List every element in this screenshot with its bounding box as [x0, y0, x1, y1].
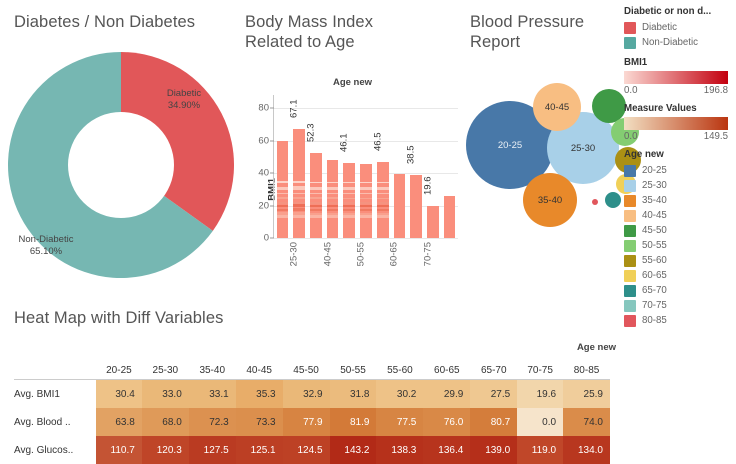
- heatmap-cell[interactable]: 72.3: [189, 408, 236, 436]
- bar-density-band: [327, 202, 339, 203]
- bar-density-band: [293, 212, 305, 215]
- bar[interactable]: [327, 160, 339, 238]
- legend-bmi1-min: 0.0: [624, 85, 637, 96]
- bar[interactable]: [277, 141, 289, 238]
- table-row: Avg. Blood ..63.868.072.373.377.981.977.…: [14, 408, 610, 436]
- heatmap-table: 20-2525-3035-4040-4545-5050-5555-6060-65…: [14, 356, 610, 464]
- legend-age-new-label: 35-40: [642, 195, 667, 206]
- bar-density-band: [277, 193, 289, 194]
- bar-density-band: [360, 209, 372, 211]
- bar-density-band: [377, 193, 389, 194]
- bar-column[interactable]: 38.5: [408, 95, 425, 238]
- legend-age-new-item[interactable]: 60-65: [624, 268, 736, 283]
- bar-density-band: [360, 202, 372, 203]
- bar-density-band: [310, 213, 322, 215]
- table-row: Avg. BMI130.433.033.135.332.931.830.229.…: [14, 380, 610, 409]
- bar-density-band: [310, 193, 322, 194]
- y-axis-tick: 20: [258, 200, 269, 211]
- y-axis-tick: 40: [258, 168, 269, 179]
- heatmap-column-header: 70-75: [517, 356, 563, 380]
- bar-density-band: [310, 182, 322, 184]
- color-swatch-icon: [624, 37, 636, 49]
- color-swatch-icon: [624, 195, 636, 207]
- bar-column[interactable]: 40-45: [324, 95, 341, 238]
- legend-age-new-item[interactable]: 45-50: [624, 223, 736, 238]
- heatmap-cell[interactable]: 30.4: [96, 380, 142, 409]
- heatmap-cell[interactable]: 31.8: [330, 380, 377, 409]
- bar[interactable]: [394, 174, 406, 238]
- color-swatch-icon: [624, 285, 636, 297]
- bar-density-band: [360, 215, 372, 218]
- bar[interactable]: [410, 175, 422, 238]
- legend-diabetic-item[interactable]: Non-Diabetic: [624, 35, 736, 50]
- bar-density-band: [360, 193, 372, 194]
- bar-density-band: [277, 181, 289, 183]
- legend-measure-values-range: 0.0 149.5: [624, 131, 728, 142]
- legend-age-new-label: 50-55: [642, 240, 667, 251]
- heatmap-cell[interactable]: 27.5: [470, 380, 517, 409]
- bar-density-band: [343, 198, 355, 199]
- legend-age-new-label: 45-50: [642, 225, 667, 236]
- bar-density-band: [293, 204, 305, 206]
- heatmap-cell[interactable]: 134.0: [563, 436, 610, 464]
- heatmap-cell[interactable]: 139.0: [470, 436, 517, 464]
- heatmap-cell[interactable]: 143.2: [330, 436, 377, 464]
- bar-density-band: [310, 205, 322, 207]
- heatmap-cell[interactable]: 138.3: [376, 436, 423, 464]
- heatmap-cell[interactable]: 73.3: [236, 408, 283, 436]
- bar-density-band: [343, 209, 355, 211]
- bar-column[interactable]: 46.5: [374, 95, 391, 238]
- heatmap-column-header: 20-25: [96, 356, 142, 380]
- legend-age-new-label: 20-25: [642, 165, 667, 176]
- bar-density-band: [343, 213, 355, 215]
- y-axis-tick: 80: [258, 103, 269, 114]
- legend-age-new-label: 25-30: [642, 180, 667, 191]
- heatmap-column-header: 45-50: [283, 356, 330, 380]
- legend-diabetic-title: Diabetic or non d...: [624, 6, 736, 17]
- x-axis-tick: 40-45: [322, 242, 333, 266]
- heatmap-cell[interactable]: 124.5: [283, 436, 330, 464]
- color-swatch-icon: [624, 315, 636, 327]
- bar-value-label: 46.1: [339, 134, 350, 153]
- bar-chart-plot: BMI1 020406080 67.125-3052.340-4546.150-…: [274, 95, 458, 260]
- color-swatch-icon: [624, 225, 636, 237]
- bar-value-label: 67.1: [289, 99, 300, 118]
- heatmap-cell[interactable]: 74.0: [563, 408, 610, 436]
- donut-label-diabetic: Diabetic 34.90%: [148, 88, 220, 112]
- legend-measure-values-min: 0.0: [624, 131, 637, 142]
- heatmap-column-header: 35-40: [189, 356, 236, 380]
- legend-age-new-item[interactable]: 50-55: [624, 238, 736, 253]
- heatmap-cell[interactable]: 29.9: [423, 380, 470, 409]
- bar-density-band: [310, 197, 322, 199]
- dashboard: Diabetes / Non Diabetes Diabetic 34.90% …: [0, 0, 736, 454]
- heatmap-cell[interactable]: 25.9: [563, 380, 610, 409]
- heatmap-cell[interactable]: 77.9: [283, 408, 330, 436]
- bar-density-band: [360, 205, 372, 207]
- heatmap-cell[interactable]: 76.0: [423, 408, 470, 436]
- bar-density-band: [377, 202, 389, 203]
- bar[interactable]: [377, 162, 389, 238]
- bar-density-band: [377, 198, 389, 200]
- bar-density-band: [293, 197, 305, 199]
- bar[interactable]: [293, 129, 305, 238]
- bar-density-band: [310, 214, 322, 217]
- heatmap-column-header: 50-55: [330, 356, 377, 380]
- color-swatch-icon: [624, 165, 636, 177]
- color-swatch-icon: [624, 255, 636, 267]
- legend-age-new-label: 80-85: [642, 315, 667, 326]
- legend-diabetic-item[interactable]: Diabetic: [624, 20, 736, 35]
- legend-age-new-label: 70-75: [642, 300, 667, 311]
- legend-measure-values-title: Measure Values: [624, 103, 736, 114]
- y-axis-tick: 60: [258, 135, 269, 146]
- heatmap-column-header: 80-85: [563, 356, 610, 380]
- heatmap-cell[interactable]: 0.0: [517, 408, 563, 436]
- legend-bmi1: BMI1 0.0 196.8: [624, 57, 736, 96]
- bar-density-band: [343, 187, 355, 189]
- bar-density-band: [377, 209, 389, 211]
- legend-age-new-title: Age new: [624, 149, 736, 160]
- bar-density-band: [377, 215, 389, 218]
- bar-density-band: [327, 193, 339, 194]
- heatmap-cell[interactable]: 32.9: [283, 380, 330, 409]
- bar-density-band: [293, 181, 305, 183]
- heatmap-cell[interactable]: 80.7: [470, 408, 517, 436]
- legend-age-new-item[interactable]: 65-70: [624, 283, 736, 298]
- heatmap-column-header: 40-45: [236, 356, 283, 380]
- bubble-65-70[interactable]: [605, 192, 621, 208]
- bar[interactable]: [310, 153, 322, 238]
- heatmap-title: Heat Map with Diff Variables: [14, 308, 223, 328]
- heatmap-column-header: 25-30: [142, 356, 189, 380]
- legend-age-new-item[interactable]: 55-60: [624, 253, 736, 268]
- legend-age-new-label: 55-60: [642, 255, 667, 266]
- bar-density-band: [343, 215, 355, 218]
- bar-density-band: [310, 187, 322, 190]
- x-axis-tick: 50-55: [355, 242, 366, 266]
- bar-value-label: 52.3: [305, 124, 316, 143]
- bar-density-band: [277, 205, 289, 207]
- bar[interactable]: [360, 164, 372, 238]
- legend-bmi1-colorbar: [624, 71, 728, 84]
- legend-age-new-label: 60-65: [642, 270, 667, 281]
- x-axis-tick: 70-75: [422, 242, 433, 266]
- bubble-40-45[interactable]: 40-45: [533, 83, 581, 131]
- heatmap-column-header: 65-70: [470, 356, 517, 380]
- bar-density-band: [277, 212, 289, 214]
- heatmap-cell[interactable]: 33.1: [189, 380, 236, 409]
- heatmap-cell[interactable]: 120.3: [142, 436, 189, 464]
- bar-density-band: [377, 182, 389, 184]
- bar-column[interactable]: 52.3: [307, 95, 324, 238]
- bubble-chart: 20-2525-3035-4040-45: [462, 70, 620, 220]
- legend-age-new-item[interactable]: 80-85: [624, 313, 736, 328]
- donut-hole: [68, 112, 174, 218]
- bar-density-band: [360, 198, 372, 199]
- heatmap-row-header: Avg. BMI1: [14, 380, 96, 409]
- bubble-35-40[interactable]: 35-40: [523, 173, 577, 227]
- table-row: Avg. Glucos..110.7120.3127.5125.1124.514…: [14, 436, 610, 464]
- color-swatch-icon: [624, 270, 636, 282]
- color-swatch-icon: [624, 300, 636, 312]
- gridline: [274, 238, 458, 239]
- bar-density-band: [343, 205, 355, 207]
- bar-density-band: [277, 197, 289, 199]
- bar-column[interactable]: 19.670-75: [425, 95, 442, 238]
- bar-density-band: [327, 213, 339, 215]
- donut-chart: Diabetic 34.90% Non-Diabetic 65.10%: [8, 40, 234, 290]
- bar-density-band: [327, 187, 339, 189]
- bar-density-band: [327, 215, 339, 218]
- bar-density-band: [327, 182, 339, 184]
- heatmap-cell[interactable]: 19.6: [517, 380, 563, 409]
- bubble-chart-title: Blood Pressure Report: [470, 12, 620, 52]
- bar-density-band: [293, 186, 305, 189]
- bar-density-band: [327, 205, 339, 207]
- legend-measure-values-max: 149.5: [704, 131, 728, 142]
- bar-plot-area: 020406080 67.125-3052.340-4546.150-5546.…: [274, 95, 458, 238]
- heatmap-panel: Heat Map with Diff Variables Age new 20-…: [0, 300, 624, 454]
- bar-density-band: [293, 202, 305, 204]
- bar-chart-title: Body Mass Index Related to Age: [245, 12, 460, 52]
- heatmap-x-axis-title: Age new: [577, 342, 616, 353]
- legend-diabetic-label: Non-Diabetic: [642, 37, 698, 48]
- color-swatch-icon: [624, 240, 636, 252]
- bar[interactable]: [444, 196, 456, 238]
- color-swatch-icon: [624, 180, 636, 192]
- color-swatch-icon: [624, 210, 636, 222]
- heatmap-cell[interactable]: 127.5: [189, 436, 236, 464]
- heatmap-cell[interactable]: 119.0: [517, 436, 563, 464]
- heatmap-header-row: 20-2525-3035-4040-4545-5050-5555-6060-65…: [14, 356, 610, 380]
- heatmap-cell[interactable]: 110.7: [96, 436, 142, 464]
- heatmap-cell[interactable]: 68.0: [142, 408, 189, 436]
- y-axis-tick: 0: [264, 233, 269, 244]
- bar-density-band: [360, 182, 372, 183]
- bar-density-band: [377, 187, 389, 189]
- legend-bmi1-max: 196.8: [704, 85, 728, 96]
- bubble-80-85[interactable]: [592, 199, 598, 205]
- heatmap-column-header: 55-60: [376, 356, 423, 380]
- heatmap-corner-cell: [14, 356, 96, 380]
- bar-density-band: [343, 202, 355, 203]
- bar-value-label: 19.6: [422, 177, 433, 196]
- heatmap-cell[interactable]: 35.3: [236, 380, 283, 409]
- bar[interactable]: [343, 163, 355, 238]
- legend-age-new-item[interactable]: 35-40: [624, 193, 736, 208]
- bar-density-band: [277, 209, 289, 212]
- donut-chart-panel: Diabetes / Non Diabetes Diabetic 34.90% …: [0, 0, 240, 300]
- heatmap-cell[interactable]: 136.4: [423, 436, 470, 464]
- x-axis-tick: 60-65: [389, 242, 400, 266]
- legend-age-new-label: 40-45: [642, 210, 667, 221]
- bar-column[interactable]: [441, 95, 458, 238]
- bar-density-band: [277, 202, 289, 204]
- legend-diabetic-label: Diabetic: [642, 22, 677, 33]
- bar-column[interactable]: 60-65: [391, 95, 408, 238]
- bubble-chart-panel: Blood Pressure Report 20-2525-3035-4040-…: [462, 0, 620, 250]
- bar-column[interactable]: 67.125-30: [291, 95, 308, 238]
- heatmap-cell[interactable]: 81.9: [330, 408, 377, 436]
- heatmap-cell[interactable]: 77.5: [376, 408, 423, 436]
- bar-value-label: 38.5: [406, 146, 417, 165]
- bar-density-band: [293, 208, 305, 211]
- legend-panel: Diabetic or non d... DiabeticNon-Diabeti…: [624, 6, 736, 335]
- bar-density-band: [327, 197, 339, 199]
- color-swatch-icon: [624, 22, 636, 34]
- bar-density-band: [360, 213, 372, 215]
- bar-column[interactable]: 46.1: [341, 95, 358, 238]
- bar-density-band: [310, 209, 322, 212]
- legend-bmi1-range: 0.0 196.8: [624, 85, 728, 96]
- bar-density-band: [377, 205, 389, 207]
- heatmap-column-header: 60-65: [423, 356, 470, 380]
- heatmap-cell[interactable]: 63.8: [96, 408, 142, 436]
- bar-density-band: [343, 182, 355, 183]
- legend-age-new-item[interactable]: 20-25: [624, 163, 736, 178]
- heatmap-row-header: Avg. Blood ..: [14, 408, 96, 436]
- bar-density-band: [277, 187, 289, 190]
- legend-bmi1-title: BMI1: [624, 57, 736, 68]
- donut-chart-title: Diabetes / Non Diabetes: [14, 12, 239, 32]
- legend-measure-values-colorbar: [624, 117, 728, 130]
- legend-diabetic: Diabetic or non d... DiabeticNon-Diabeti…: [624, 6, 736, 50]
- legend-age-new-item[interactable]: 25-30: [624, 178, 736, 193]
- bar-chart-panel: Body Mass Index Related to Age Age new B…: [240, 0, 465, 300]
- legend-age-new-item[interactable]: 70-75: [624, 298, 736, 313]
- bar-column[interactable]: 50-55: [358, 95, 375, 238]
- bar-density-band: [377, 213, 389, 215]
- legend-measure-values: Measure Values 0.0 149.5: [624, 103, 736, 142]
- heatmap-cell[interactable]: 33.0: [142, 380, 189, 409]
- x-axis-tick: 25-30: [289, 242, 300, 266]
- bar[interactable]: [427, 206, 439, 238]
- heatmap-cell[interactable]: 125.1: [236, 436, 283, 464]
- heatmap-cell[interactable]: 30.2: [376, 380, 423, 409]
- bar-density-band: [360, 187, 372, 189]
- heatmap-row-header: Avg. Glucos..: [14, 436, 96, 464]
- legend-age-new-item[interactable]: 40-45: [624, 208, 736, 223]
- bar-value-label: 46.5: [372, 133, 383, 152]
- bar-x-axis-title: Age new: [240, 77, 465, 88]
- bar-density-band: [293, 193, 305, 195]
- donut-label-non-diabetic: Non-Diabetic 65.10%: [2, 234, 90, 258]
- legend-age-new-label: 65-70: [642, 285, 667, 296]
- bar-density-band: [327, 209, 339, 211]
- legend-age-new: Age new 20-2525-3035-4040-4545-5050-5555…: [624, 149, 736, 328]
- bar-density-band: [310, 202, 322, 204]
- bar-density-band: [343, 193, 355, 194]
